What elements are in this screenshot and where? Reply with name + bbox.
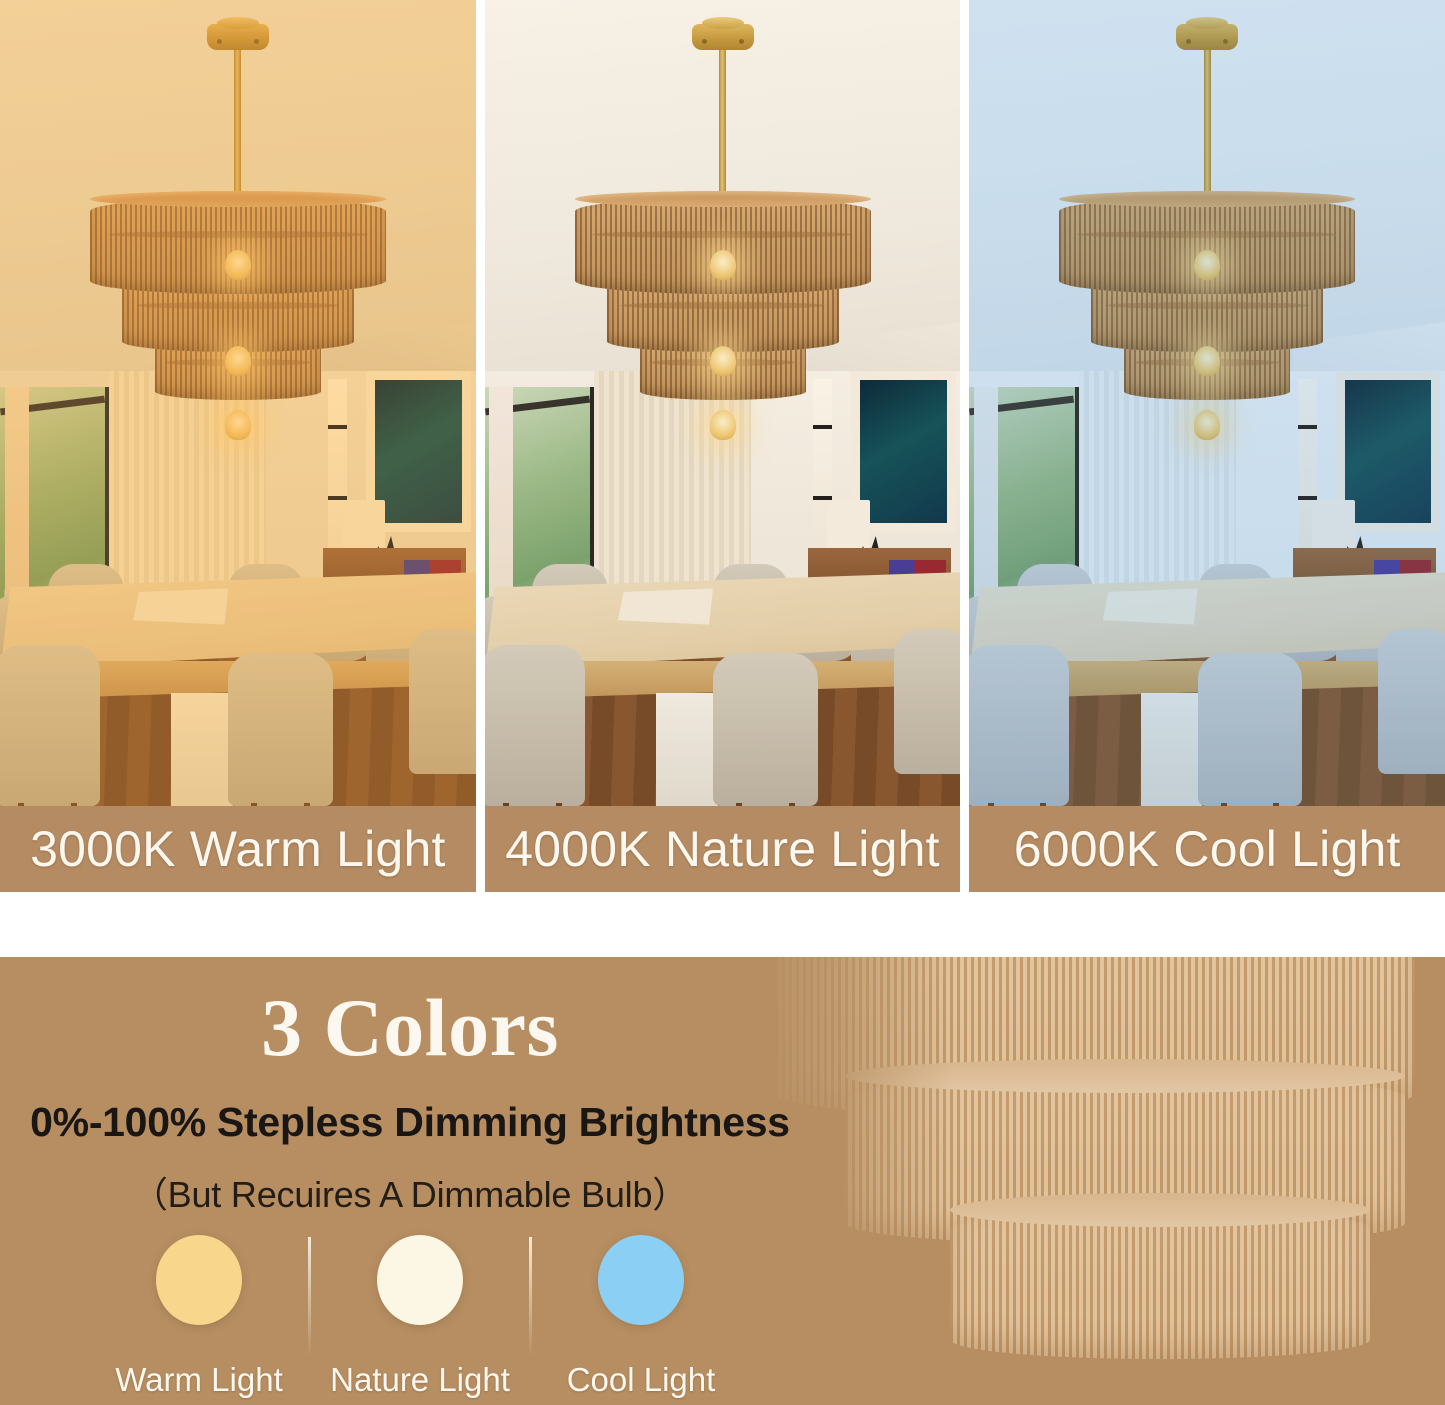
table-inlay <box>618 588 713 624</box>
chair <box>228 653 333 806</box>
light-bulb <box>225 250 251 280</box>
caption-label-cool: 6000K Cool Light <box>1014 820 1401 878</box>
chair <box>1378 629 1445 774</box>
brass-rod <box>719 50 726 202</box>
swatch-dot-warm <box>156 1235 242 1325</box>
marble-table-base <box>656 693 718 806</box>
swatch-label-cool: Cool Light <box>567 1361 716 1399</box>
chandelier-closeup-art <box>745 957 1445 1405</box>
table-inlay <box>133 588 228 624</box>
banner-note: （But Recuires A Dimmable Bulb） <box>0 1166 820 1218</box>
room-photo-cool <box>969 0 1445 806</box>
caption-label-nature: 4000K Nature Light <box>505 820 939 878</box>
color-temperature-comparison: 3000K Warm Light <box>0 0 1445 892</box>
product-infographic: 3000K Warm Light <box>0 0 1445 1405</box>
swatch-dot-nature <box>377 1235 463 1325</box>
comparison-panel-cool: 6000K Cool Light <box>969 0 1445 892</box>
room-photo-warm <box>0 0 476 806</box>
rattan-chandelier <box>1059 24 1355 400</box>
light-bulb <box>710 410 736 440</box>
swatch-dot-cool <box>598 1235 684 1325</box>
light-bulb <box>1194 250 1220 280</box>
light-bulb <box>225 410 251 440</box>
comparison-panel-warm: 3000K Warm Light <box>0 0 476 892</box>
brass-canopy <box>207 24 269 50</box>
brass-canopy <box>1176 24 1238 50</box>
chair <box>485 645 585 806</box>
color-swatch-row: Warm Light Nature Light Cool Light <box>90 1235 750 1399</box>
caption-bar-nature: 4000K Nature Light <box>485 806 961 892</box>
marble-table-base <box>171 693 233 806</box>
caption-bar-cool: 6000K Cool Light <box>969 806 1445 892</box>
brass-canopy <box>692 24 754 50</box>
shade-tiers <box>575 198 871 400</box>
rattan-chandelier <box>90 24 386 400</box>
swatch-cool[interactable]: Cool Light <box>532 1235 750 1399</box>
dimming-feature-banner: 3 Colors 0%-100% Stepless Dimming Bright… <box>0 957 1445 1405</box>
banner-subline: 0%-100% Stepless Dimming Brightness <box>0 1099 820 1146</box>
chair <box>894 629 961 774</box>
caption-label-warm: 3000K Warm Light <box>30 820 445 878</box>
table-inlay <box>1103 588 1198 624</box>
chair <box>713 653 818 806</box>
light-bulb <box>1194 410 1220 440</box>
light-bulb <box>225 346 251 376</box>
light-bulb <box>710 250 736 280</box>
chair <box>1198 653 1303 806</box>
marble-table-base <box>1141 693 1203 806</box>
swatch-nature[interactable]: Nature Light <box>311 1235 529 1399</box>
comparison-panel-nature: 4000K Nature Light <box>485 0 961 892</box>
light-bulb <box>710 346 736 376</box>
shade-tiers <box>90 198 386 400</box>
room-photo-nature <box>485 0 961 806</box>
light-bulb <box>1194 346 1220 376</box>
banner-text-block: 3 Colors 0%-100% Stepless Dimming Bright… <box>0 957 820 1405</box>
swatch-label-nature: Nature Light <box>330 1361 510 1399</box>
caption-bar-warm: 3000K Warm Light <box>0 806 476 892</box>
shade-tiers <box>1059 198 1355 400</box>
brass-rod <box>234 50 241 202</box>
chair <box>409 629 476 774</box>
chair <box>0 645 100 806</box>
swatch-warm[interactable]: Warm Light <box>90 1235 308 1399</box>
swatch-label-warm: Warm Light <box>115 1361 282 1399</box>
banner-headline: 3 Colors <box>0 987 820 1069</box>
brass-rod <box>1204 50 1211 202</box>
chair <box>969 645 1069 806</box>
rattan-chandelier <box>575 24 871 400</box>
